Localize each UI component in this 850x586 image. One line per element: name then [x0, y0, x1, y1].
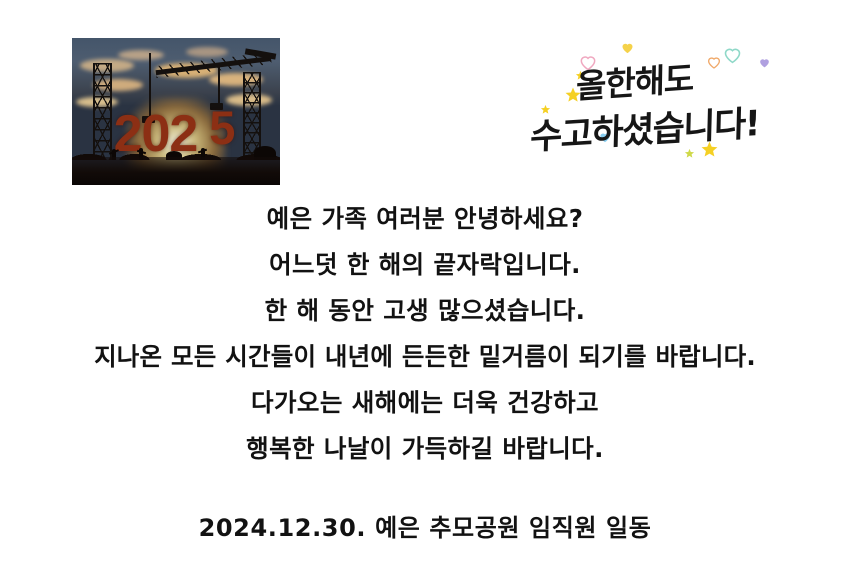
cloud [186, 47, 228, 57]
message-body: 예은 가족 여러분 안녕하세요? 어느덧 한 해의 끝자락입니다. 한 해 동안… [0, 196, 850, 472]
heart-purple-filled-icon [758, 56, 771, 69]
message-line: 어느덧 한 해의 끝자락입니다. [0, 242, 850, 288]
crane-cable [218, 66, 220, 104]
message-line: 한 해 동안 고생 많으셨습니다. [0, 288, 850, 334]
year-digit-5: 5 [209, 104, 234, 151]
lattice-tower [93, 63, 112, 160]
message-line: 예은 가족 여러분 안녕하세요? [0, 196, 850, 242]
sunset-construction-crane-2025-photo: 202 5 [72, 38, 280, 185]
message-line: 다가오는 새해에는 더욱 건강하고 [0, 380, 850, 426]
heart-mint-outline-icon [722, 44, 743, 65]
ground-silhouette [72, 157, 280, 185]
signature-line: 2024.12.30. 예은 추모공원 임직원 일동 [0, 508, 850, 543]
heart-orange-outline-icon [706, 54, 722, 70]
message-line: 지나온 모든 시간들이 내년에 든든한 밑거름이 되기를 바랍니다. [0, 334, 850, 380]
heart-yellow-filled-icon [620, 40, 635, 55]
cloud [118, 50, 164, 60]
calligraphy-line-2: 수고하셨습니다! [530, 95, 760, 160]
card-header-row: 202 5 [0, 0, 850, 195]
message-line: 행복한 나날이 가득하길 바랍니다. [0, 426, 850, 472]
calligraphy-graphic: 올한해도 수고하셨습니다! [520, 30, 795, 178]
greeting-card: 202 5 [0, 0, 850, 586]
